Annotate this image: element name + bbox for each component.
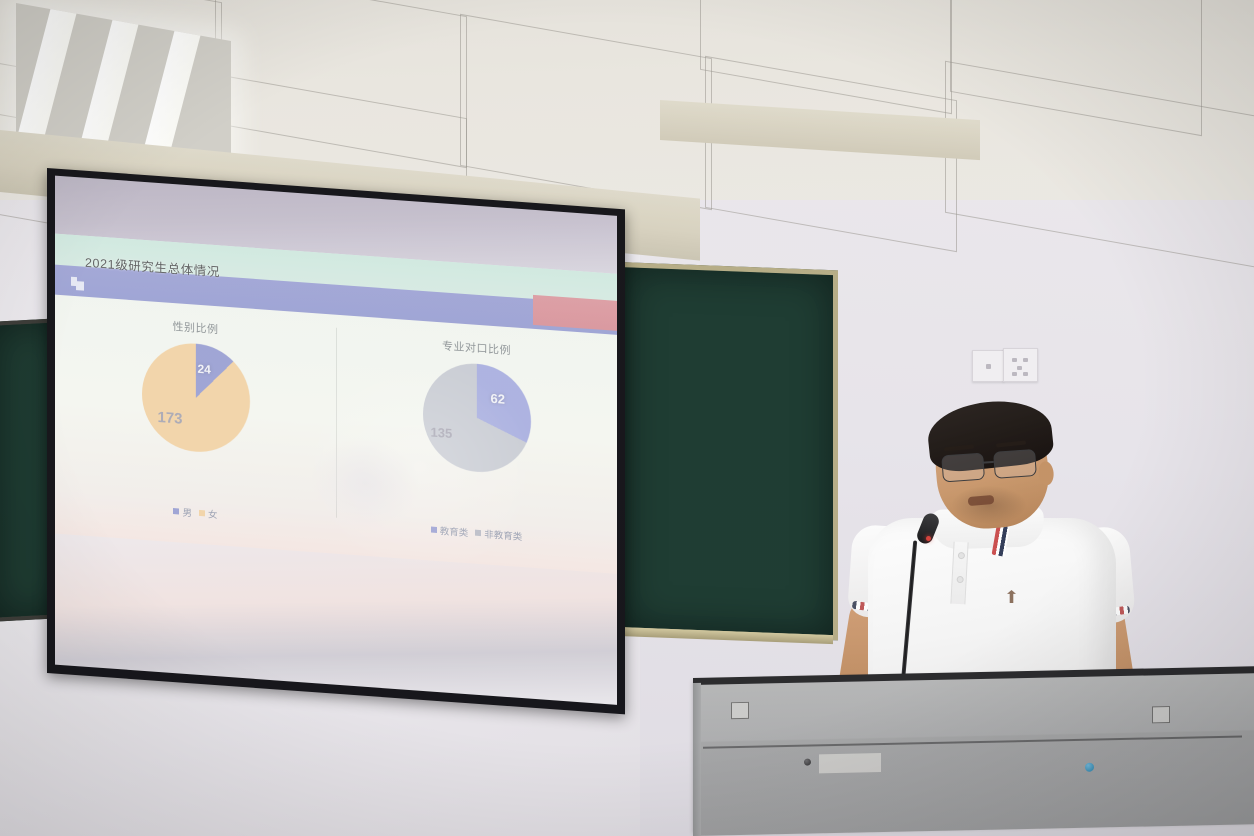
legend-item-male: 男 [173,504,192,519]
legend-swatch-male [173,508,179,514]
legend-swatch-female [199,510,205,516]
lens-left [941,453,985,483]
outlet-hole [1012,372,1017,376]
chart-panel-major-match: 专业对口比例 62 135 教育类 非教育类 [336,318,617,574]
pie-chart-gender [142,340,250,456]
legend-item-female: 女 [199,506,218,521]
screen-surface: 2021级研究生总体情况 性别比例 24 173 [55,176,617,705]
podium-power-button[interactable] [1085,763,1094,772]
slide-accent-bar-red [533,295,617,331]
chart-panel-gender: 性别比例 24 173 男 女 [55,298,336,554]
presentation-slide: 2021级研究生总体情况 性别比例 24 173 [55,234,617,574]
blackboard-main [620,262,838,640]
podium [693,671,1254,836]
legend-label-non-education: 非教育类 [484,526,522,543]
wall-outlet-panel[interactable] [1003,348,1038,382]
legend-label-education: 教育类 [440,523,469,539]
outlet-hole [1023,358,1028,362]
legend-label-female: 女 [208,507,218,522]
glasses-bridge [982,461,994,463]
page-corner-icon [71,277,84,291]
legend-item-non-education: 非教育类 [475,526,522,543]
switch-indicator [986,364,991,369]
shirt-button [958,552,965,559]
legend-label-male: 男 [182,505,192,520]
legend-swatch-education [431,527,437,533]
podium-panel-seam [703,736,1242,749]
photo-scene: 2021级研究生总体情况 性别比例 24 173 [0,0,1254,836]
podium-label-right [1152,706,1170,723]
slide-chart-area: 性别比例 24 173 男 女 [55,298,617,574]
legend-swatch-non-education [475,530,481,536]
chart-legend-major-match: 教育类 非教育类 [336,516,617,550]
chart-title: 专业对口比例 [336,330,617,366]
outlet-hole [1017,366,1022,370]
pie-label-education: 62 [491,391,505,407]
lens-right [993,449,1037,479]
wall-switch-panel[interactable] [972,350,1004,382]
microphone-led-indicator [926,536,931,541]
legend-item-education: 教育类 [431,523,469,540]
chart-title: 性别比例 [55,310,336,346]
beard-shadow [952,486,1026,524]
chart-legend-gender: 男 女 [55,496,336,530]
pie-chart-major-match [423,360,531,476]
outlet-hole [1012,358,1017,362]
shirt-button [956,576,963,583]
podium-label-left [731,702,749,719]
pie-label-female: 173 [158,409,183,428]
projection-screen: 2021级研究生总体情况 性别比例 24 173 [47,168,625,714]
outlet-hole [1023,372,1028,376]
podium-left-edge [693,683,701,836]
podium-tape-patch [819,753,881,773]
pie-label-male: 24 [198,362,211,377]
podium-screw [804,759,811,766]
pie-label-non-education: 135 [431,424,453,441]
